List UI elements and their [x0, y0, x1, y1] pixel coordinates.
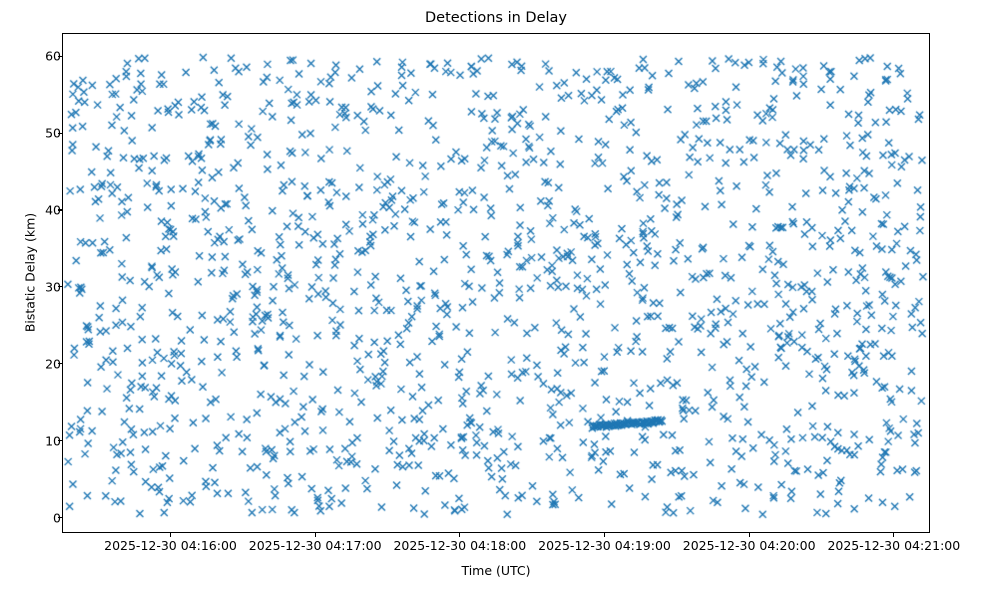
- y-tick-label: 40: [45, 203, 61, 216]
- x-tick-label: 2025-12-30 04:19:00: [538, 539, 671, 553]
- x-tick-label: 2025-12-30 04:16:00: [104, 539, 237, 553]
- y-tick-label: 10: [45, 434, 61, 447]
- x-tick-mark: [459, 533, 460, 537]
- plot-area: [62, 33, 930, 533]
- x-tick-mark: [893, 533, 894, 537]
- x-tick-mark: [315, 533, 316, 537]
- x-axis-label: Time (UTC): [62, 563, 930, 578]
- page-title: Detections in Delay: [62, 8, 930, 28]
- x-tick-mark: [170, 533, 171, 537]
- y-axis-label: Bistatic Delay (km): [23, 158, 38, 388]
- scatter-series: [63, 34, 929, 532]
- x-tick-label: 2025-12-30 04:17:00: [249, 539, 382, 553]
- x-tick-mark: [749, 533, 750, 537]
- matplotlib-figure: Detections in Delay Bistatic Delay (km) …: [0, 0, 987, 590]
- y-tick-label: 30: [45, 280, 61, 293]
- x-tick-label: 2025-12-30 04:20:00: [683, 539, 816, 553]
- y-tick-label: 20: [45, 357, 61, 370]
- x-tick-label: 2025-12-30 04:18:00: [393, 539, 526, 553]
- x-tick-mark: [604, 533, 605, 537]
- y-tick-label: 50: [45, 127, 61, 140]
- y-tick-label: 0: [53, 511, 61, 524]
- y-tick-label: 60: [45, 50, 61, 63]
- x-tick-label: 2025-12-30 04:21:00: [827, 539, 960, 553]
